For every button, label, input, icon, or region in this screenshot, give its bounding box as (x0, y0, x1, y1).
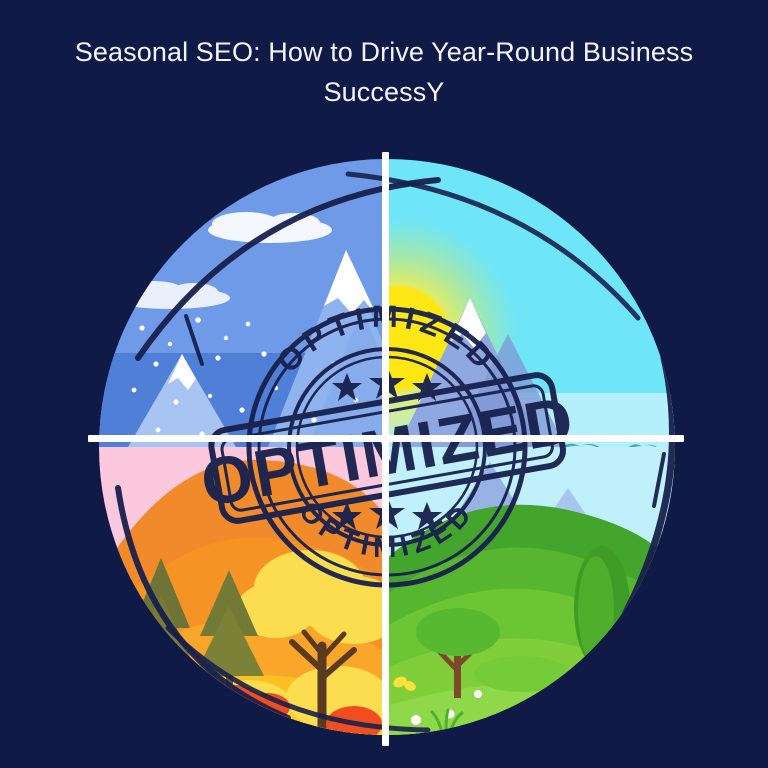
bush-icon (474, 656, 570, 692)
poster-canvas: Seasonal SEO: How to Drive Year-Round Bu… (0, 0, 768, 768)
divider-vertical (382, 152, 389, 746)
snow-cloud-icon (208, 212, 332, 243)
mushroom-icon (287, 725, 316, 736)
page-title: Seasonal SEO: How to Drive Year-Round Bu… (40, 33, 728, 113)
cypress-tree-icon (574, 546, 630, 686)
